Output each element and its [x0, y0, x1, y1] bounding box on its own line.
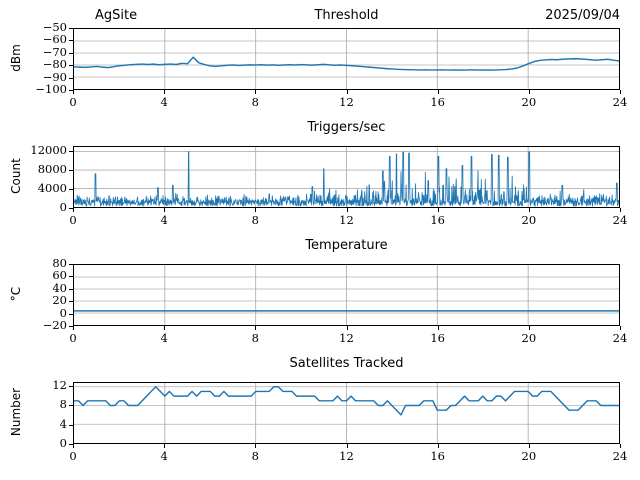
yaxis-label-threshold: dBm: [9, 28, 23, 88]
panel-title-temperature: Temperature: [73, 238, 620, 254]
xtick-label: 0: [69, 332, 76, 344]
plot-area-triggers[interactable]: [73, 146, 620, 208]
plot-area-temperature[interactable]: [73, 264, 620, 326]
yaxis-label-temperature: °C: [9, 264, 23, 324]
xtick-mark: [164, 208, 165, 212]
xtick-label: 20: [522, 332, 537, 344]
ytick-mark: [69, 386, 73, 387]
ytick-mark: [69, 90, 73, 91]
xtick-mark: [164, 90, 165, 94]
xtick-label: 24: [613, 214, 628, 226]
plot-area-threshold[interactable]: [73, 28, 620, 90]
xtick-mark: [438, 208, 439, 212]
ytick-label: −80: [43, 59, 67, 71]
yaxis-label-triggers: Count: [9, 146, 23, 206]
plot-canvas-satellites: [74, 383, 619, 443]
xtick-label: 20: [522, 96, 537, 108]
xtick-mark: [529, 444, 530, 448]
ytick-mark: [69, 444, 73, 445]
ytick-label: −20: [43, 320, 67, 332]
ytick-mark: [69, 405, 73, 406]
xtick-mark: [620, 326, 621, 330]
xtick-mark: [347, 90, 348, 94]
xtick-mark: [529, 90, 530, 94]
ytick-mark: [69, 65, 73, 66]
xtick-label: 12: [339, 332, 354, 344]
xtick-label: 16: [430, 214, 445, 226]
plot-canvas-temperature: [74, 265, 619, 325]
panel-satellites: Satellites Tracked 12840 Number 04812162…: [0, 354, 640, 480]
panel-threshold: −50−60−70−80−90−100 dBm 04812162024: [0, 0, 640, 118]
ytick-label: 4: [60, 419, 67, 431]
xtick-label: 0: [69, 450, 76, 462]
xtick-label: 20: [522, 450, 537, 462]
ytick-mark: [69, 28, 73, 29]
monitor-figure: AgSite Threshold 2025/09/04 −50−60−70−80…: [0, 0, 640, 480]
ytick-mark: [69, 264, 73, 265]
ytick-mark: [69, 53, 73, 54]
plot-canvas-threshold: [74, 29, 619, 89]
xtick-mark: [347, 208, 348, 212]
ytick-label: 0: [60, 202, 67, 214]
ytick-mark: [69, 208, 73, 209]
ytick-label: 12000: [30, 145, 67, 157]
ytick-mark: [69, 425, 73, 426]
xtick-label: 0: [69, 214, 76, 226]
panel-title-satellites: Satellites Tracked: [73, 356, 620, 372]
xtick-mark: [73, 444, 74, 448]
xtick-mark: [529, 326, 530, 330]
xtick-label: 4: [160, 96, 167, 108]
xtick-mark: [164, 444, 165, 448]
xtick-mark: [73, 326, 74, 330]
xtick-label: 16: [430, 96, 445, 108]
panel-triggers: Triggers/sec 12000800040000 Count 048121…: [0, 118, 640, 236]
plot-area-satellites[interactable]: [73, 382, 620, 444]
xtick-label: 24: [613, 332, 628, 344]
ytick-label: 0: [60, 438, 67, 450]
xtick-label: 24: [613, 450, 628, 462]
ytick-label: −100: [35, 84, 67, 96]
ytick-label: 4000: [38, 183, 67, 195]
xtick-mark: [255, 444, 256, 448]
xtick-mark: [255, 208, 256, 212]
xtick-mark: [438, 326, 439, 330]
xtick-label: 4: [160, 332, 167, 344]
ytick-mark: [69, 276, 73, 277]
panel-temperature: Temperature 806040200−20 °C 04812162024: [0, 236, 640, 354]
xtick-label: 20: [522, 214, 537, 226]
xtick-mark: [438, 90, 439, 94]
xtick-mark: [620, 90, 621, 94]
xtick-label: 24: [613, 96, 628, 108]
xtick-label: 0: [69, 96, 76, 108]
xtick-mark: [438, 444, 439, 448]
xtick-label: 16: [430, 332, 445, 344]
ytick-label: 12: [52, 380, 67, 392]
ytick-mark: [69, 40, 73, 41]
yaxis-label-satellites: Number: [9, 382, 23, 442]
ytick-mark: [69, 314, 73, 315]
ytick-label: 8000: [38, 164, 67, 176]
ytick-label: 20: [52, 295, 67, 307]
xtick-label: 8: [252, 96, 259, 108]
ytick-mark: [69, 289, 73, 290]
xtick-label: 12: [339, 96, 354, 108]
xtick-label: 4: [160, 214, 167, 226]
xtick-label: 4: [160, 450, 167, 462]
xtick-mark: [255, 326, 256, 330]
ytick-label: 8: [60, 399, 67, 411]
xtick-label: 16: [430, 450, 445, 462]
xtick-label: 8: [252, 450, 259, 462]
xtick-mark: [164, 326, 165, 330]
xtick-label: 8: [252, 214, 259, 226]
xtick-mark: [73, 208, 74, 212]
ytick-mark: [69, 189, 73, 190]
xtick-mark: [73, 90, 74, 94]
xtick-mark: [620, 208, 621, 212]
xtick-mark: [255, 90, 256, 94]
ytick-mark: [69, 301, 73, 302]
xtick-mark: [620, 444, 621, 448]
xtick-mark: [347, 444, 348, 448]
ytick-mark: [69, 326, 73, 327]
xtick-label: 8: [252, 332, 259, 344]
ytick-mark: [69, 170, 73, 171]
plot-canvas-triggers: [74, 147, 619, 207]
xtick-mark: [529, 208, 530, 212]
panel-title-triggers: Triggers/sec: [73, 120, 620, 136]
xtick-label: 12: [339, 214, 354, 226]
ytick-mark: [69, 78, 73, 79]
xtick-label: 12: [339, 450, 354, 462]
xtick-mark: [347, 326, 348, 330]
ytick-mark: [69, 151, 73, 152]
